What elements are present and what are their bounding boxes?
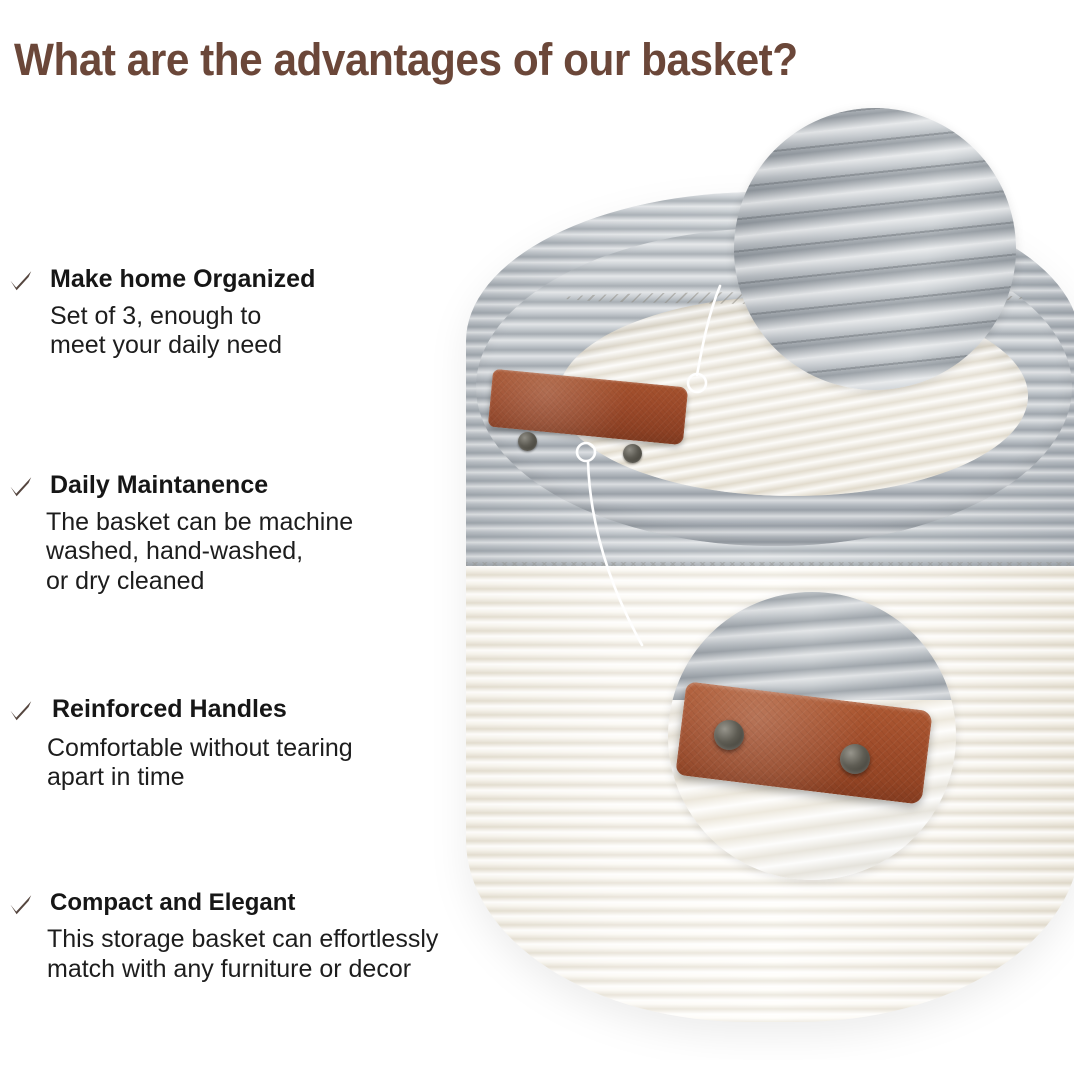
feature-title: Daily Maintanence (50, 472, 353, 500)
feature-item-reinforced-handles: Reinforced Handles Comfortable without t… (0, 696, 353, 793)
feature-title: Make home Organized (50, 266, 315, 294)
feature-item-compact-and-elegant: Compact and Elegant This storage basket … (0, 890, 438, 984)
callout-handle (668, 592, 956, 880)
check-icon (8, 892, 34, 918)
feature-body: The basket can be machine washed, hand-w… (46, 508, 353, 597)
callout-handle-rivet (840, 744, 870, 774)
feature-title: Compact and Elegant (50, 890, 438, 916)
product-photo (430, 100, 1074, 1060)
feature-body: Set of 3, enough to meet your daily need (50, 302, 315, 361)
check-icon (8, 268, 34, 294)
callout-handle-rivet (714, 720, 744, 750)
check-icon (8, 698, 34, 724)
feature-item-daily-maintanence: Daily Maintanence The basket can be mach… (0, 472, 353, 596)
check-icon (8, 474, 34, 500)
feature-item-make-home-organized: Make home Organized Set of 3, enough to … (0, 266, 315, 361)
callout-rope (734, 108, 1016, 390)
feature-title: Reinforced Handles (52, 696, 353, 724)
handle-rivet (623, 444, 642, 463)
feature-body: This storage basket can effortlessly mat… (47, 925, 438, 984)
handle-rivet (518, 432, 537, 451)
feature-body: Comfortable without tearing apart in tim… (47, 734, 353, 793)
